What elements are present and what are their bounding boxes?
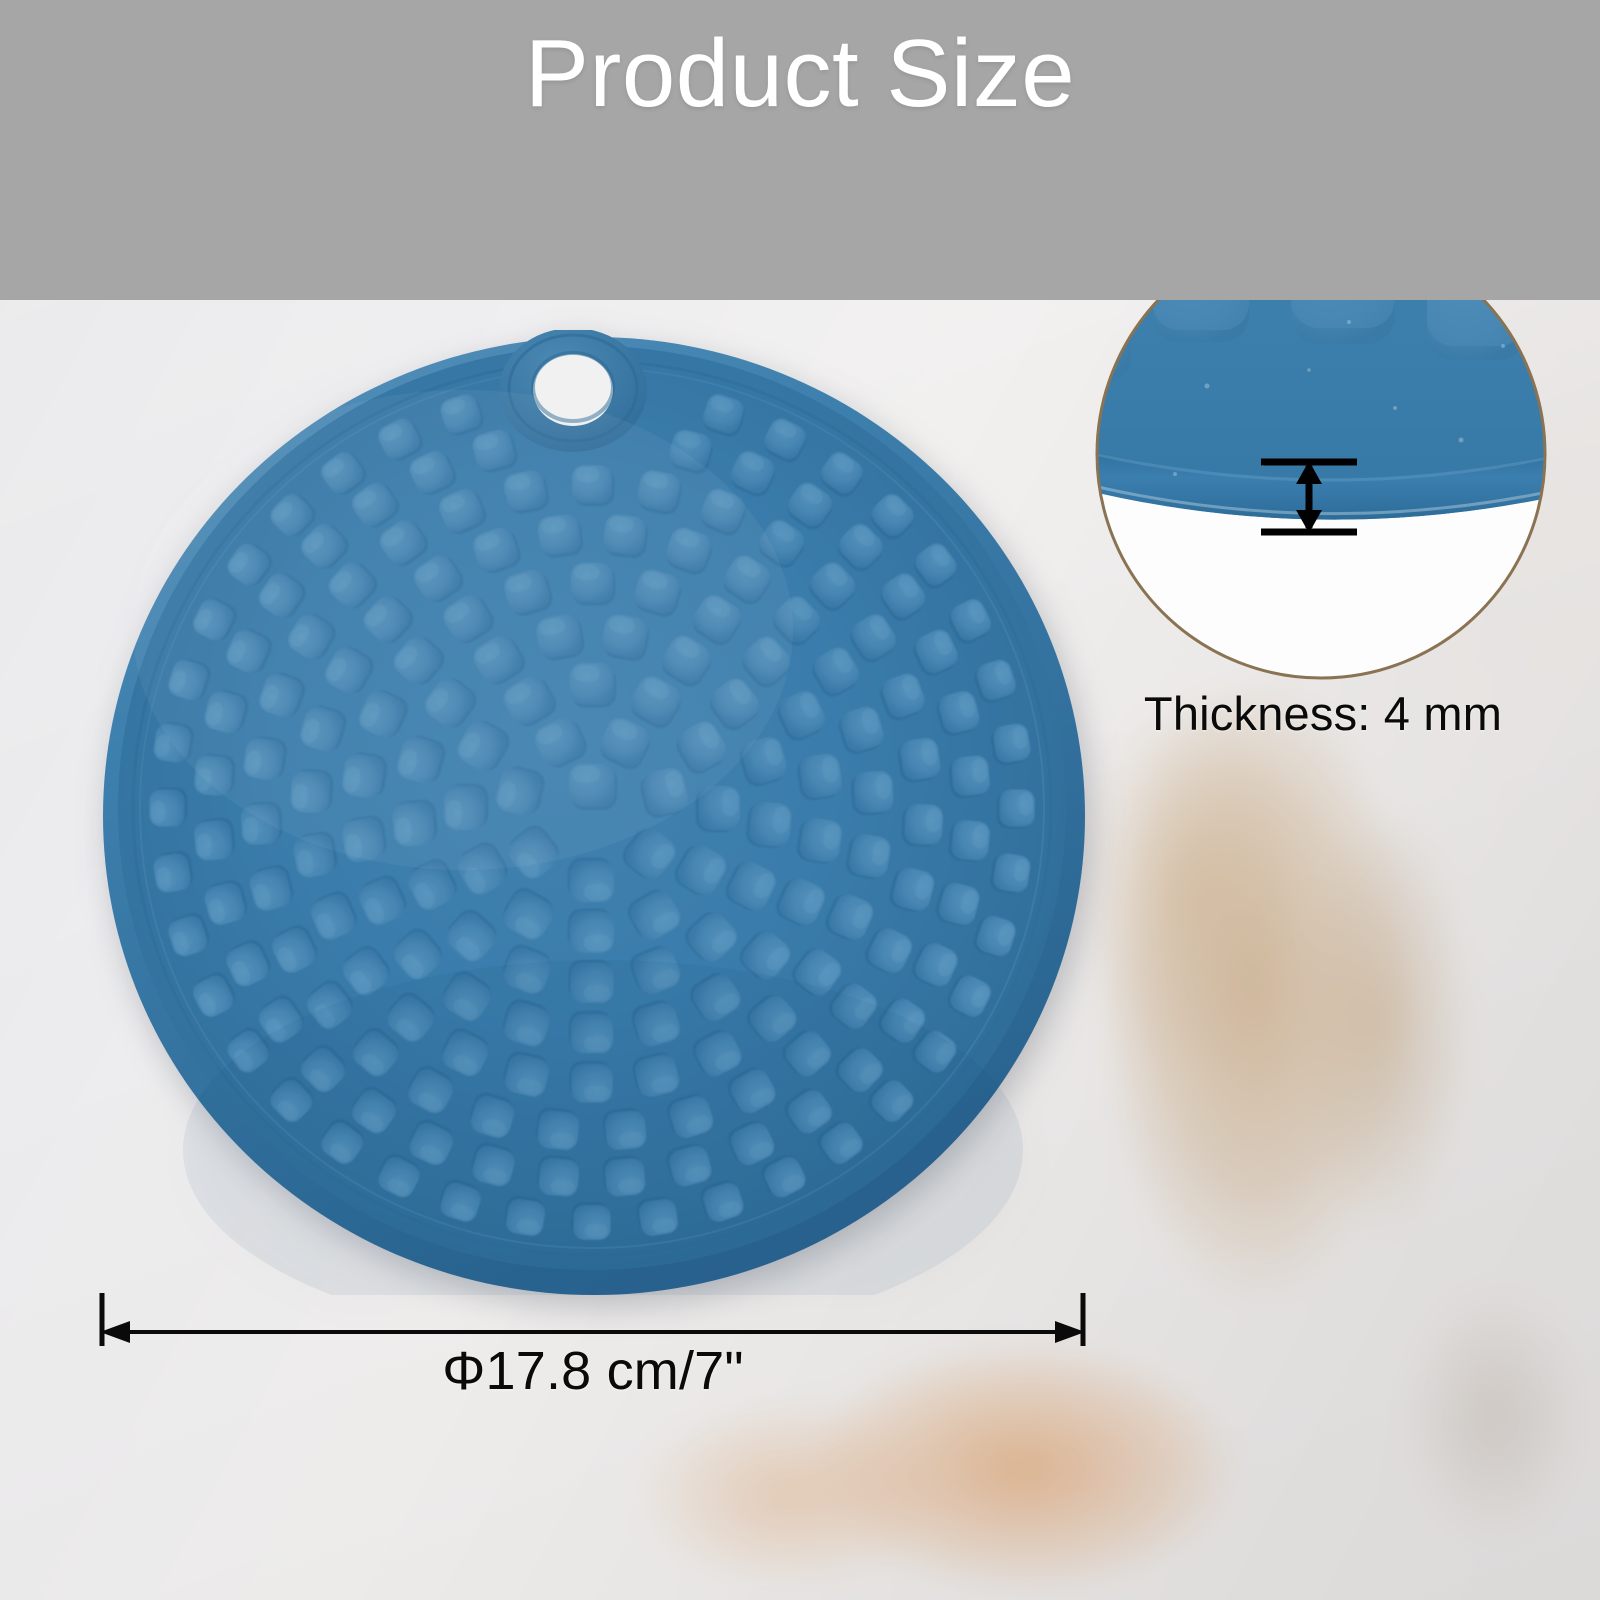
trivet-illustration bbox=[103, 330, 1085, 1295]
page-title: Product Size bbox=[0, 22, 1600, 126]
trivet-product-image bbox=[103, 330, 1085, 1295]
bottom-banner bbox=[0, 1340, 1600, 1600]
thickness-label: Thickness: 4 mm bbox=[1088, 686, 1558, 741]
product-size-infographic: Thickness: 4 mm Φ17.8 cm/7" Product Size bbox=[0, 0, 1600, 1600]
